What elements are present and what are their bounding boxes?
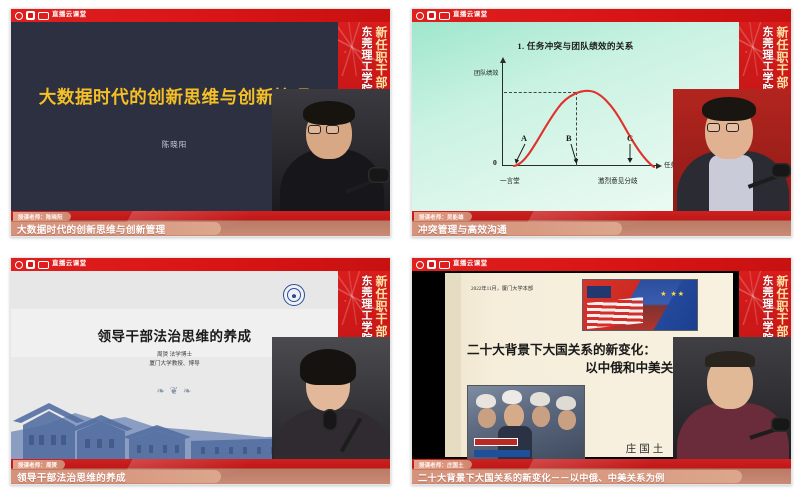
- chart-title: 1. 任务冲突与团队绩效的关系: [412, 40, 739, 52]
- teacher-badge: 授课老师：周赟: [13, 460, 65, 469]
- brand-logo-text: 直播云课堂: [453, 12, 488, 19]
- us-china-flags-image: ★ ★★: [582, 279, 698, 331]
- chip-icon: [26, 11, 35, 20]
- chip-icon: [427, 11, 436, 20]
- banner-school-text: 东莞理工学院: [761, 26, 772, 95]
- stream-footer-1: 授课老师：陈晓阳 大数据时代的创新思维与创新管理: [11, 211, 390, 236]
- ring-icon: [15, 261, 23, 269]
- microphone-icon: [771, 163, 791, 178]
- presenter-video-overlay[interactable]: [673, 89, 791, 211]
- footer-course-title: 二十大背景下大国关系的新变化－－以中俄、中美关系为例: [412, 470, 742, 483]
- stream-footer-3: 授课老师：周赟 领导干部法治思维的养成: [11, 459, 390, 484]
- banner-school-text: 东莞理工学院: [761, 275, 772, 344]
- glasses-icon: [308, 125, 352, 135]
- x-axis-right-annotation: 激烈意见分歧: [598, 175, 638, 185]
- stream-footer-2: 授课老师：吴能雄 冲突管理与高效沟通: [412, 211, 791, 236]
- stream-panel-4[interactable]: 直播云课堂 2022年11月，厦门大学本部 ★ ★★ 二十大背景下大国关系的新变…: [401, 249, 802, 497]
- us-flag-canton: [587, 286, 611, 298]
- slide-presenter-name: 陈晓阳: [162, 139, 187, 150]
- presenter-hair: [300, 349, 356, 385]
- video-frame[interactable]: 直播云课堂 大数据时代的创新思维与创新管理 陈晓阳 新任职干部能力提升培训班 东…: [10, 8, 391, 237]
- photo-caption-blue: [474, 450, 530, 457]
- presenter-hair: [705, 351, 755, 367]
- microphone-icon: [368, 167, 390, 183]
- brand-logo-text: 直播云课堂: [453, 261, 488, 268]
- chip-icon: [427, 260, 436, 269]
- footer-course-title: 领导干部法治思维的养成: [11, 470, 221, 483]
- presenter-hair: [702, 97, 756, 121]
- microphone-icon: [322, 409, 338, 431]
- china-flag-stars: ★ ★★: [660, 290, 685, 298]
- stream-header: 直播云课堂: [11, 258, 390, 271]
- camera-icon: [38, 261, 49, 269]
- annotation-b: B: [566, 134, 572, 143]
- slide-title-line1: 二十大背景下大国关系的新变化：: [467, 343, 656, 357]
- person-face: [558, 410, 576, 430]
- stream-header: 直播云课堂: [11, 9, 390, 22]
- video-frame[interactable]: 直播云课堂 2022年11月，厦门大学本部 ★ ★★ 二十大背景下大国关系的新变…: [411, 257, 792, 485]
- footer-course-title: 冲突管理与高效沟通: [412, 222, 622, 235]
- slide-date-place: 2022年11月，厦门大学本部: [471, 285, 533, 292]
- annotation-c: C: [627, 134, 633, 143]
- conflict-performance-chart: 团队绩效 任务冲突 0 A B C 一言堂 激烈意见分歧: [478, 58, 668, 178]
- y-axis-label: 团队绩效: [474, 71, 498, 79]
- camera-icon: [38, 12, 49, 20]
- camera-icon: [439, 261, 450, 269]
- video-frame[interactable]: 直播云课堂 领导干部法治思维的养成 周赟 法学博士 厦门大学教授、博导 ❧ ❦ …: [10, 257, 391, 485]
- x-axis-left-annotation: 一言堂: [500, 175, 520, 185]
- university-seal-icon: [283, 284, 305, 306]
- person-face: [478, 408, 496, 428]
- annotation-pointers: [478, 58, 658, 170]
- ring-icon: [416, 261, 424, 269]
- stream-panel-3[interactable]: 直播云课堂 领导干部法治思维的养成 周赟 法学博士 厦门大学教授、博导 ❧ ❦ …: [0, 249, 401, 497]
- helmet-icon: [502, 390, 522, 404]
- teacher-badge: 授课老师：吴能雄: [414, 212, 472, 221]
- brand-logo-text: 直播云课堂: [52, 261, 87, 268]
- helmet-icon: [530, 392, 550, 406]
- group-photo-image: [467, 385, 585, 459]
- teacher-badge: 授课老师：庄国土: [414, 460, 472, 469]
- photo-caption-red: [474, 438, 518, 446]
- origin-label: 0: [493, 158, 497, 167]
- helmet-icon: [476, 394, 496, 408]
- us-flag-stripes: [587, 297, 643, 329]
- ring-icon: [416, 12, 424, 20]
- banner-school-text: 东莞理工学院: [360, 275, 371, 344]
- stream-panel-2[interactable]: 直播云课堂 1. 任务冲突与团队绩效的关系: [401, 0, 802, 249]
- microphone-icon: [771, 417, 791, 432]
- stream-footer-4: 授课老师：庄国土 二十大背景下大国关系的新变化－－以中俄、中美关系为例: [412, 459, 791, 484]
- stream-header: 直播云课堂: [412, 9, 791, 22]
- presenter-shirt: [709, 155, 753, 211]
- ring-icon: [15, 12, 23, 20]
- teacher-badge: 授课老师：陈晓阳: [13, 212, 71, 221]
- banner-school-text: 东莞理工学院: [360, 26, 371, 95]
- stream-header: 直播云课堂: [412, 258, 791, 271]
- video-frame[interactable]: 直播云课堂 1. 任务冲突与团队绩效的关系: [411, 8, 792, 237]
- presenter-hair: [303, 101, 355, 125]
- presenter-video-overlay[interactable]: [673, 337, 791, 459]
- chip-icon: [26, 260, 35, 269]
- brand-logo-text: 直播云课堂: [52, 12, 87, 19]
- person-face: [532, 406, 550, 427]
- stream-panel-1[interactable]: 直播云课堂 大数据时代的创新思维与创新管理 陈晓阳 新任职干部能力提升培训班 东…: [0, 0, 401, 249]
- slide-side-stripe: [445, 273, 461, 457]
- presenter-video-overlay[interactable]: [272, 89, 390, 211]
- footer-course-title: 大数据时代的创新思维与创新管理: [11, 222, 221, 235]
- glasses-icon: [707, 123, 753, 133]
- panel-grid: 直播云课堂 大数据时代的创新思维与创新管理 陈晓阳 新任职干部能力提升培训班 东…: [0, 0, 802, 497]
- slide-title: 大数据时代的创新思维与创新管理: [39, 84, 311, 109]
- presenter-video-overlay[interactable]: [272, 337, 390, 459]
- camera-icon: [439, 12, 450, 20]
- person-face: [504, 404, 524, 428]
- annotation-a: A: [521, 134, 527, 143]
- helmet-icon: [556, 396, 576, 410]
